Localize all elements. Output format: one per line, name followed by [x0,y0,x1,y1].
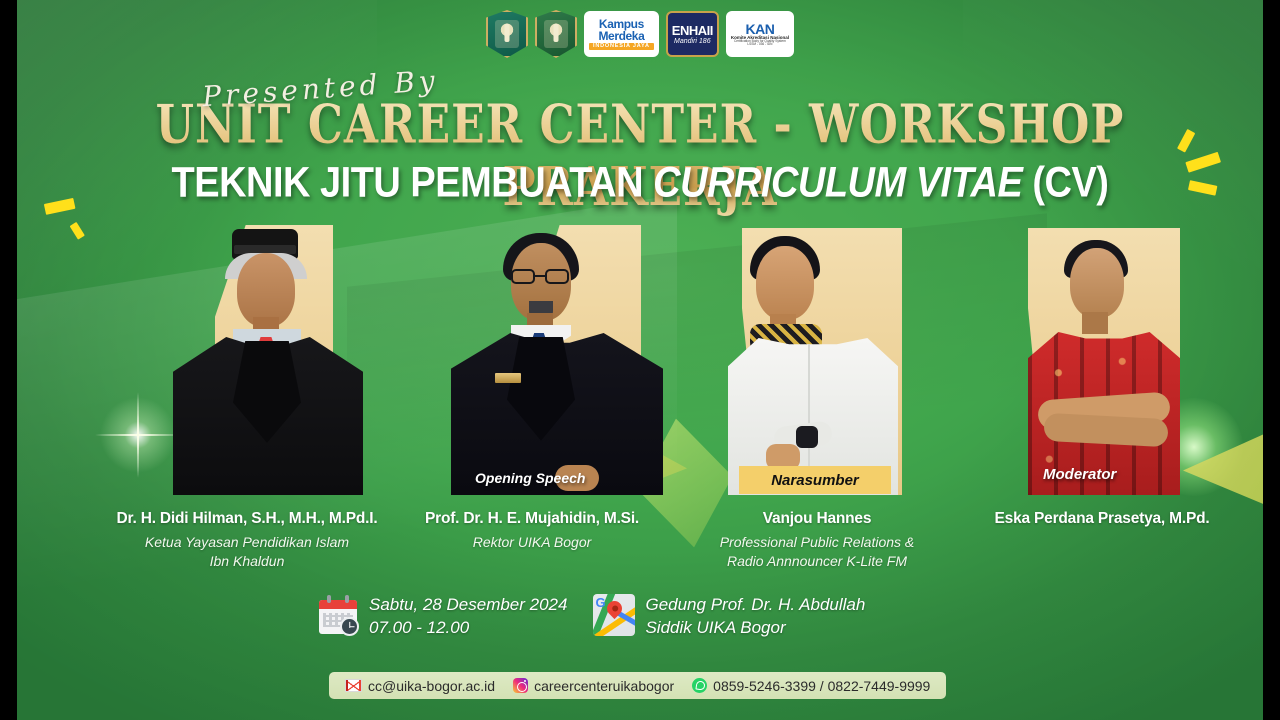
speaker-card-3 [722,228,907,495]
speaker-role-2-line1: Rektor UIKA Bogor [387,533,677,552]
speaker-name-3: Vanjou Hannes [677,510,957,528]
letterbox-bar-left [0,0,17,720]
event-date-line1: Sabtu, 28 Desember 2024 [369,594,567,617]
enhaii-logo-icon: ENHAII Mandiri 186 [666,11,719,57]
speaker-badge-4: Moderator [1043,466,1116,483]
speaker-card-4 [1022,228,1187,495]
contact-email-item[interactable]: cc@uika-bogor.ac.id [345,678,495,694]
event-date-block: Sabtu, 28 Desember 2024 07.00 - 12.00 [317,594,567,640]
calendar-clock-icon [317,594,359,636]
title2-post: (CV) [1022,159,1108,206]
title2-italic: CURRICULUM VITAE [653,159,1022,206]
kan-logo-icon: KAN Komite Akreditasi Nasional Certifica… [726,11,794,57]
speaker-role-3-line1: Professional Public Relations & [677,533,957,552]
enhaii-line1: ENHAII [672,24,713,37]
page-title-secondary: TEKNIK JITU PEMBUATAN CURRICULUM VITAE (… [17,159,1263,207]
kampus-merdeka-logo-icon: Kampus Merdeka INDONESIA JAYA [584,11,659,57]
speaker-role-1-line2: Ibn Khaldun [37,552,457,571]
poster-canvas: Kampus Merdeka INDONESIA JAYA ENHAII Man… [17,0,1263,720]
gmail-icon [345,679,362,692]
event-date-text: Sabtu, 28 Desember 2024 07.00 - 12.00 [369,594,567,640]
event-time-line2: 07.00 - 12.00 [369,617,567,640]
speaker-name-2: Prof. Dr. H. E. Mujahidin, M.Si. [387,510,677,528]
event-venue-text: Gedung Prof. Dr. H. Abdullah Siddik UIKA… [645,594,865,640]
sparkle-burst-right [1169,140,1241,200]
speaker-name-4: Eska Perdana Prasetya, M.Pd. [947,510,1257,528]
contact-instagram-item[interactable]: careercenteruikabogor [513,678,674,694]
speaker-badge-2: Opening Speech [475,470,585,486]
contact-email-text: cc@uika-bogor.ac.id [368,678,495,694]
uika-logo-2-icon [535,10,577,58]
speaker-badge-3: Narasumber [739,466,891,494]
google-maps-icon: G [593,594,635,636]
event-venue-line1: Gedung Prof. Dr. H. Abdullah [645,594,865,617]
whatsapp-icon [692,678,707,693]
letterbox-bar-right [1263,0,1280,720]
instagram-icon [513,678,528,693]
uika-logo-1-icon [486,10,528,58]
speaker-role-2: Rektor UIKA Bogor [387,533,677,552]
kampus-merdeka-line3: INDONESIA JAYA [589,43,654,51]
kan-line4: LSSM - 036 - IDN [747,43,772,46]
speaker-card-2 [437,225,687,495]
kampus-merdeka-line2: Merdeka [598,30,644,42]
event-info-row: Sabtu, 28 Desember 2024 07.00 - 12.00 G … [317,594,865,640]
contact-whatsapp-item[interactable]: 0859-5246-3399 / 0822-7449-9999 [692,678,930,694]
poster-stage: Kampus Merdeka INDONESIA JAYA ENHAII Man… [0,0,1280,720]
speaker-photo-3 [722,228,907,495]
kan-line1: KAN [745,22,774,36]
contact-bar: cc@uika-bogor.ac.id careercenteruikabogo… [329,672,946,699]
title2-pre: TEKNIK JITU PEMBUATAN [172,159,654,206]
event-venue-block: G Gedung Prof. Dr. H. Abdullah Siddik UI… [593,594,865,640]
partner-logo-strip: Kampus Merdeka INDONESIA JAYA ENHAII Man… [17,10,1263,58]
speaker-role-3-line2: Radio Annnouncer K-Lite FM [677,552,957,571]
speaker-photo-4 [1022,228,1187,495]
kampus-merdeka-line1: Kampus [599,18,644,30]
contact-instagram-text: careercenteruikabogor [534,678,674,694]
speaker-photo-1 [137,225,397,495]
enhaii-line2: Mandiri 186 [674,38,711,45]
contact-whatsapp-text: 0859-5246-3399 / 0822-7449-9999 [713,678,930,694]
sparkle-burst-left [45,192,107,244]
speaker-card-1 [137,225,397,495]
event-venue-line2: Siddik UIKA Bogor [645,617,865,640]
speaker-role-3: Professional Public Relations & Radio An… [677,533,957,571]
speaker-photo-2 [437,225,687,495]
